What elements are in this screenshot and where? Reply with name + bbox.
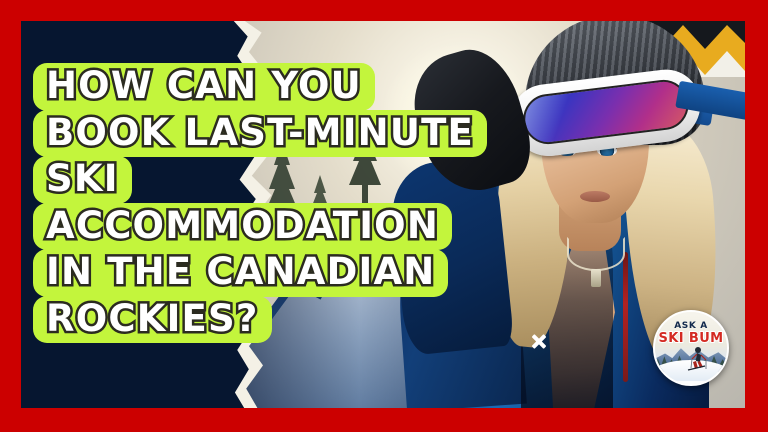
zipper-pull-icon [623,252,628,382]
thumbnail-canvas: HOW CAN YOU BOOK LAST-MINUTE SKI ACCOMMO… [21,21,745,408]
title-line-2: BOOK LAST-MINUTE [33,110,487,158]
title-line-4: ACCOMMODATION [33,203,452,251]
lips [580,191,610,202]
title-line-5: IN THE CANADIAN [33,249,448,297]
x-accent-icon [530,333,547,350]
pendant-icon [591,269,601,287]
video-thumbnail: HOW CAN YOU BOOK LAST-MINUTE SKI ACCOMMO… [0,0,768,432]
logo-line-1: ASK A [655,321,727,331]
logo-line-2: SKI BUM [655,331,727,346]
skier-icon [685,346,707,372]
title-line-6: ROCKIES? [33,296,272,344]
page-title: HOW CAN YOU BOOK LAST-MINUTE SKI ACCOMMO… [33,63,533,342]
goggle-lens [520,77,691,147]
logo-badge[interactable]: ASK A SKI BUM [653,310,729,386]
title-line-3: SKI [33,156,132,204]
title-line-1: HOW CAN YOU [33,63,375,111]
necklace-icon [567,237,625,271]
